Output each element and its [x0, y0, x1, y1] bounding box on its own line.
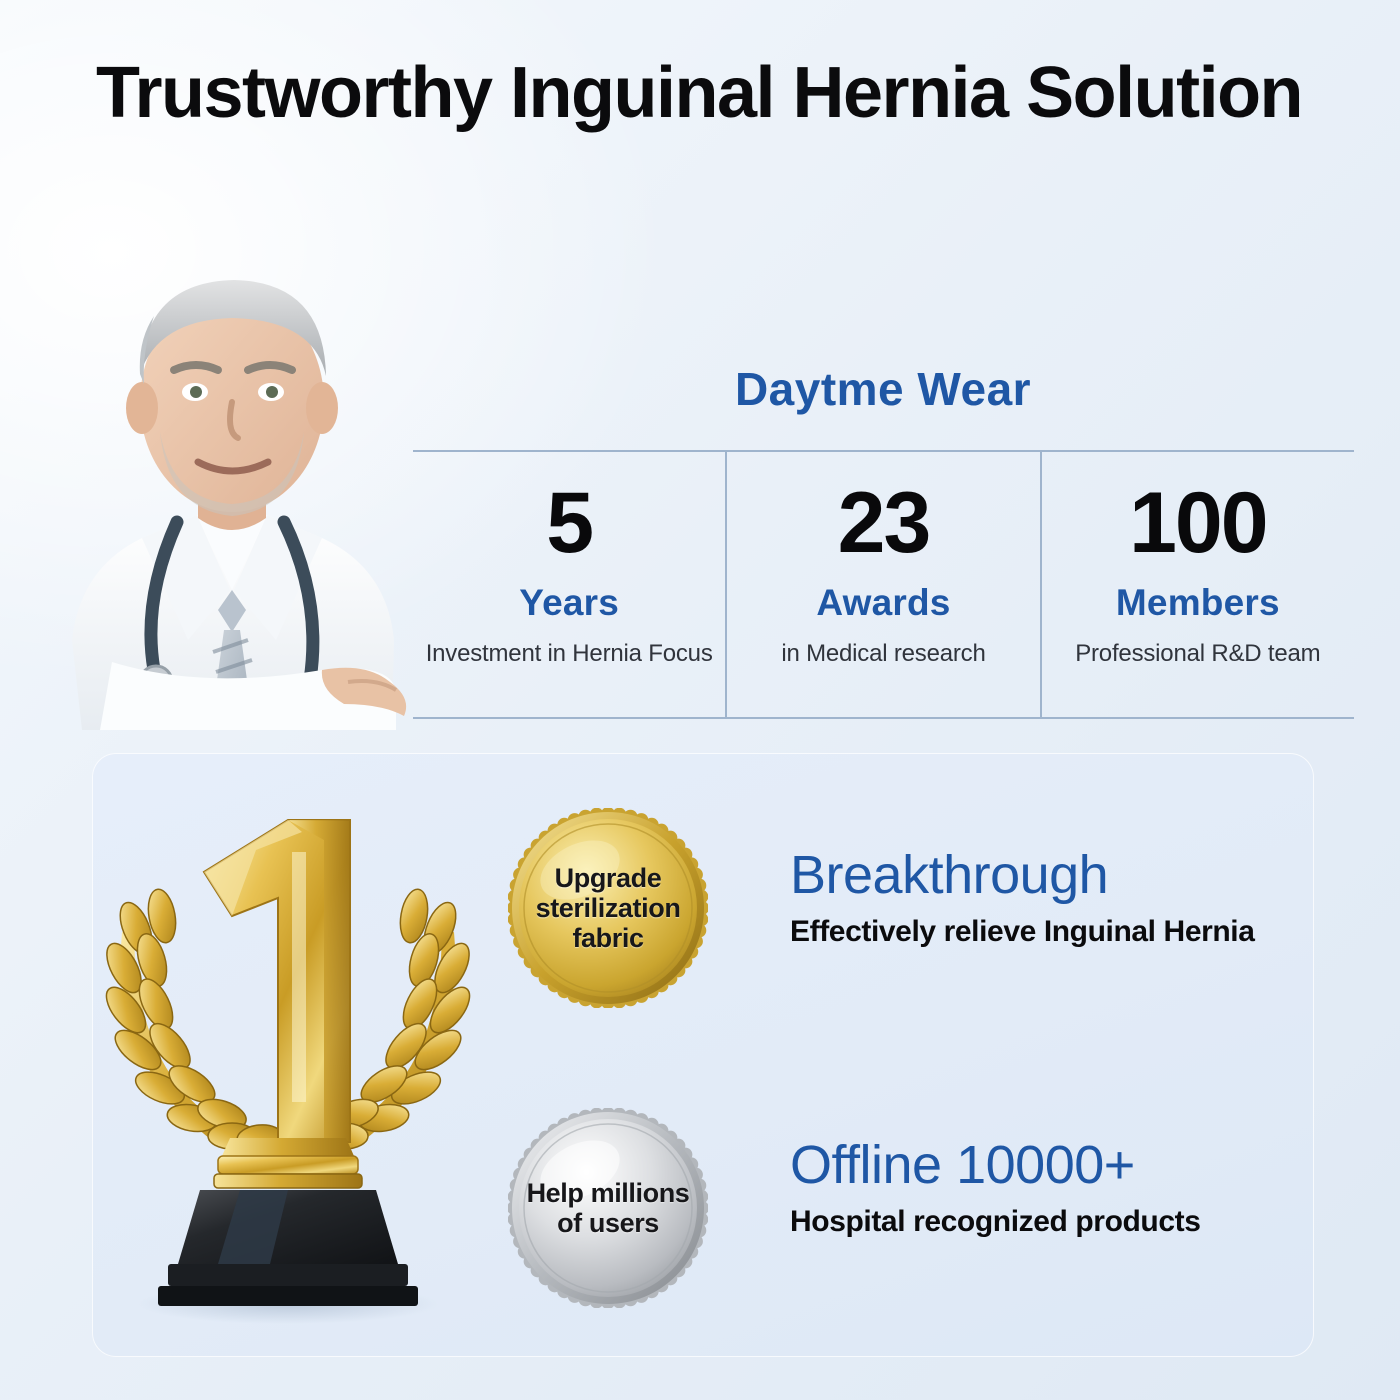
stat-number: 100	[1129, 480, 1267, 566]
badge-label: Upgrade sterilization fabric	[508, 863, 708, 954]
badge-upgrade-sterilization-fabric: Upgrade sterilization fabric	[508, 808, 708, 1008]
stat-label: Members	[1116, 582, 1280, 624]
feature-heading: Breakthrough	[790, 846, 1330, 905]
stat-description: Investment in Hernia Focus	[426, 640, 713, 668]
numeral-one	[204, 820, 350, 1142]
stat-label: Awards	[816, 582, 950, 624]
feature-breakthrough: Breakthrough Effectively relieve Inguina…	[790, 846, 1330, 949]
stats-heading: Daytme Wear	[413, 362, 1353, 416]
feature-subheading: Effectively relieve Inguinal Hernia	[790, 915, 1330, 949]
stat-description: in Medical research	[781, 640, 985, 668]
badge-help-millions-of-users: Help millions of users	[508, 1108, 708, 1308]
stat-item-years: 5 Years Investment in Hernia Focus	[413, 452, 725, 717]
feature-heading: Offline 10000+	[790, 1136, 1330, 1195]
doctor-photo	[0, 170, 462, 730]
laurel-left-icon	[99, 887, 284, 1154]
stat-number: 5	[546, 480, 592, 566]
stat-item-awards: 23 Awards in Medical research	[725, 452, 1039, 717]
stat-number: 23	[838, 480, 930, 566]
feature-subheading: Hospital recognized products	[790, 1205, 1330, 1239]
feature-offline: Offline 10000+ Hospital recognized produ…	[790, 1136, 1330, 1239]
stats-table: 5 Years Investment in Hernia Focus 23 Aw…	[413, 450, 1354, 719]
stat-label: Years	[519, 582, 619, 624]
doctor-illustration	[0, 170, 462, 730]
number-one-trophy-icon	[92, 812, 484, 1324]
infographic-canvas: Trustworthy Inguinal Hernia Solution	[0, 0, 1400, 1400]
stat-description: Professional R&D team	[1075, 640, 1320, 668]
stat-item-members: 100 Members Professional R&D team	[1040, 452, 1354, 717]
badge-label: Help millions of users	[508, 1178, 708, 1238]
page-title: Trustworthy Inguinal Hernia Solution	[96, 56, 1336, 132]
